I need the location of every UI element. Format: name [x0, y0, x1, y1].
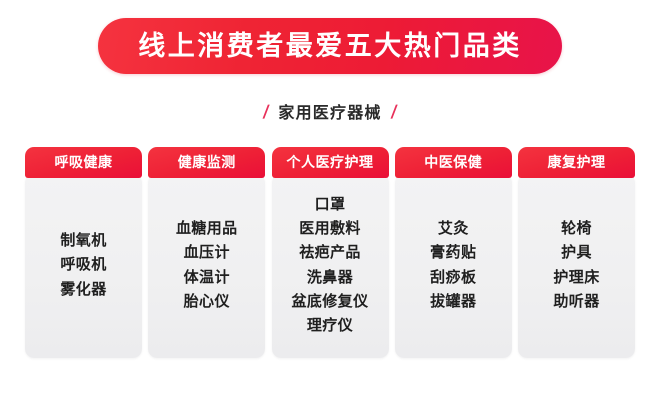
list-item: 拔罐器 [430, 289, 476, 313]
list-item: 制氧机 [60, 228, 106, 252]
category-header-monitoring: 健康监测 [148, 147, 265, 178]
category-column-rehabilitation: 康复护理 轮椅 护具 护理床 助听器 [518, 147, 635, 358]
list-item: 刮痧板 [430, 265, 476, 289]
category-header-label: 个人医疗护理 [287, 156, 374, 170]
list-item: 护具 [561, 240, 592, 264]
category-header-tcm: 中医保健 [395, 147, 512, 178]
list-item: 膏药贴 [430, 240, 476, 264]
slash-right-decoration: / [390, 104, 397, 121]
list-item: 轮椅 [561, 216, 592, 240]
slash-left-decoration: / [263, 104, 270, 121]
category-header-label: 呼吸健康 [55, 156, 113, 170]
category-body-personal-care: 口罩 医用敷料 祛疤产品 洗鼻器 盆底修复仪 理疗仪 [272, 173, 389, 358]
category-header-rehabilitation: 康复护理 [518, 147, 635, 178]
list-item: 口罩 [315, 192, 346, 216]
list-item: 血糖用品 [176, 216, 238, 240]
subtitle-label: 家用医疗器械 [278, 105, 381, 121]
category-header-label: 中医保健 [424, 156, 482, 170]
title-banner: 线上消费者最爱五大热门品类 [98, 18, 562, 74]
list-item: 理疗仪 [307, 313, 353, 337]
category-column-personal-care: 个人医疗护理 口罩 医用敷料 祛疤产品 洗鼻器 盆底修复仪 理疗仪 [272, 147, 389, 358]
list-item: 呼吸机 [60, 252, 106, 276]
category-body-respiratory: 制氧机 呼吸机 雾化器 [25, 173, 142, 358]
category-body-monitoring: 血糖用品 血压计 体温计 胎心仪 [148, 173, 265, 358]
list-item: 胎心仪 [184, 289, 230, 313]
category-column-monitoring: 健康监测 血糖用品 血压计 体温计 胎心仪 [148, 147, 265, 358]
title-banner-container: 线上消费者最爱五大热门品类 [0, 18, 660, 74]
list-item: 雾化器 [60, 277, 106, 301]
list-item: 盆底修复仪 [291, 289, 368, 313]
list-item: 血压计 [184, 240, 230, 264]
page-title: 线上消费者最爱五大热门品类 [138, 33, 522, 60]
category-body-rehabilitation: 轮椅 护具 护理床 助听器 [518, 173, 635, 358]
category-columns: 呼吸健康 制氧机 呼吸机 雾化器 健康监测 血糖用品 血压计 体温计 胎心仪 个… [25, 147, 635, 358]
category-header-label: 健康监测 [178, 156, 236, 170]
category-header-label: 康复护理 [548, 156, 606, 170]
list-item: 艾灸 [438, 216, 469, 240]
category-column-tcm: 中医保健 艾灸 膏药贴 刮痧板 拔罐器 [395, 147, 512, 358]
list-item: 体温计 [184, 265, 230, 289]
list-item: 洗鼻器 [307, 265, 353, 289]
category-header-personal-care: 个人医疗护理 [272, 147, 389, 178]
list-item: 医用敷料 [299, 216, 361, 240]
subtitle-container: / 家用医疗器械 / [0, 104, 660, 121]
list-item: 助听器 [553, 289, 599, 313]
category-body-tcm: 艾灸 膏药贴 刮痧板 拔罐器 [395, 173, 512, 358]
category-header-respiratory: 呼吸健康 [25, 147, 142, 178]
list-item: 护理床 [553, 265, 599, 289]
infographic-poster: 线上消费者最爱五大热门品类 / 家用医疗器械 / 呼吸健康 制氧机 呼吸机 雾化… [0, 0, 660, 401]
list-item: 祛疤产品 [299, 240, 361, 264]
category-column-respiratory: 呼吸健康 制氧机 呼吸机 雾化器 [25, 147, 142, 358]
